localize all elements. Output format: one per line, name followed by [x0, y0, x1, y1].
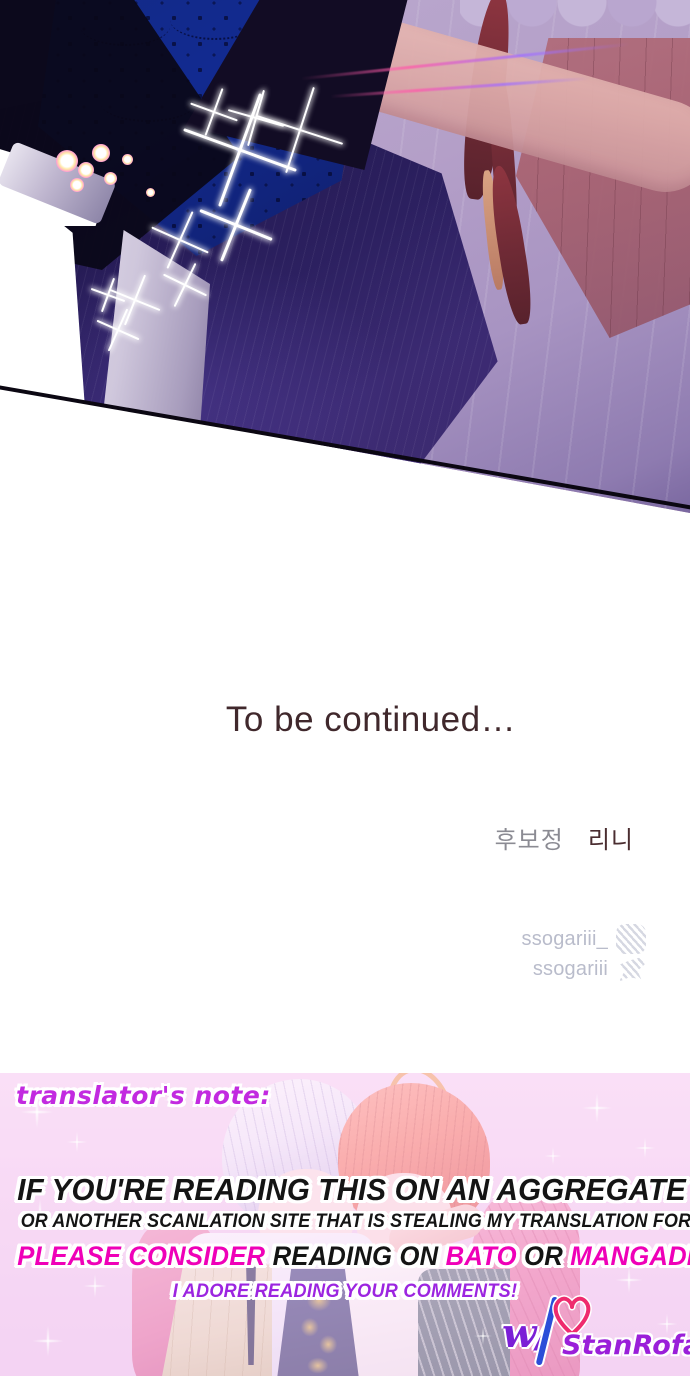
note-or: OR [524, 1241, 570, 1271]
note-site-mangadex[interactable]: MANGADEX [570, 1241, 690, 1271]
credits-section: To be continued… 후보정리니 ssogariii_ ssogar… [0, 520, 690, 1073]
note-site-bato[interactable]: BATO [446, 1241, 524, 1271]
korean-credit: 후보정리니 [495, 820, 634, 855]
note-please-consider: PLEASE CONSIDER [17, 1241, 272, 1271]
social-row-instagram[interactable]: ssogariii_ [522, 924, 646, 954]
to-be-continued-label: To be continued… [226, 700, 516, 740]
bokeh-light [78, 162, 94, 178]
translator-note-banner: translator's note: IF YOU'RE READING THI… [0, 1073, 690, 1376]
sparkle [62, 1127, 92, 1157]
signature-name: StanRofan [562, 1330, 690, 1361]
instagram-icon [616, 924, 646, 954]
to-be-continued-text: To be continued… [0, 700, 690, 740]
credit-role: 후보정 [495, 826, 564, 854]
bokeh-light [146, 188, 155, 197]
bokeh-light [70, 178, 84, 192]
note-line-read-on: PLEASE CONSIDER READING ON BATO OR MANGA… [17, 1241, 673, 1272]
note-reading-on: READING ON [273, 1241, 446, 1271]
social-handles: ssogariii_ ssogariii [522, 924, 646, 984]
twitter-handle: ssogariii [533, 958, 608, 981]
credit-name: 리니 [588, 826, 634, 854]
comic-panel [0, 0, 690, 520]
instagram-handle: ssogariii_ [522, 928, 608, 951]
bokeh-light [56, 150, 78, 172]
twitter-icon [616, 954, 646, 984]
sparkle [26, 1319, 70, 1363]
panel-artwork [0, 0, 690, 520]
bokeh-light [92, 144, 110, 162]
sparkle [540, 1143, 566, 1169]
translator-note-title: translator's note: [16, 1081, 271, 1110]
note-line-aggregate: IF YOU'RE READING THIS ON AN AGGREGATE S… [17, 1172, 673, 1208]
translator-signature: w/ StanRofan [492, 1292, 682, 1374]
note-line-scanlation: OR ANOTHER SCANLATION SITE THAT IS STEAL… [21, 1211, 670, 1233]
sparkle [630, 1133, 660, 1163]
social-row-twitter[interactable]: ssogariii [522, 954, 646, 984]
sparkle [576, 1087, 618, 1129]
bokeh-light [104, 172, 117, 185]
bokeh-light [122, 154, 133, 165]
webtoon-page: To be continued… 후보정리니 ssogariii_ ssogar… [0, 0, 690, 1376]
